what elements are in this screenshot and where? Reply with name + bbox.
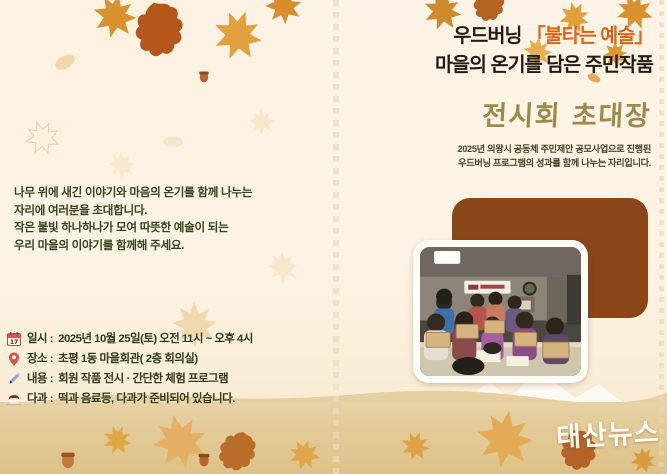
event-photo: [420, 247, 581, 376]
invitation-subtitle-line-2: 우드버닝 프로그램의 성과를 함께 나누는 자리입니다.: [337, 156, 651, 170]
info-row-refreshments: 다과 : 떡과 음료등, 다과가 준비되어 있습니다.: [6, 390, 331, 408]
headline-bracket-open: 「: [526, 25, 545, 47]
watermark: 태산뉴스: [555, 410, 660, 454]
headline-accent: 불타는 예술: [545, 25, 635, 47]
info-label-content: 내용 :: [27, 370, 53, 388]
headline-bracket-close: 」: [634, 25, 653, 47]
right-panel: 우드버닝 「불타는 예술」 마을의 온기를 담은 주민작품 전시회 초대장 20…: [333, 0, 667, 474]
teacup-icon: [6, 391, 22, 407]
invitation-subtitle-line-1: 2025년 의왕시 공동체 주민제안 공모사업으로 진행된: [337, 142, 651, 156]
info-row-content: 내용 : 회원 작품 전시 · 간단한 체험 프로그램: [6, 370, 331, 388]
invitation-body-text: 나무 위에 새긴 이야기와 마음의 온기를 함께 나누는 자리에 여러분을 초대…: [14, 184, 324, 254]
left-panel: 나무 위에 새긴 이야기와 마음의 온기를 함께 나누는 자리에 여러분을 초대…: [0, 0, 333, 474]
headline-line-2: 마을의 온기를 담은 주민작품: [337, 51, 653, 80]
info-value-refreshments: 떡과 음료등, 다과가 준비되어 있습니다.: [58, 390, 235, 408]
headline-prefix: 우드버닝: [453, 25, 526, 47]
invitation-body-line-3: 작은 불빛 하나하나가 모여 따뜻한 예술이 되는: [14, 219, 324, 237]
info-value-date: 2025년 10월 25일(토) 오전 11시 ~ 오후 4시: [58, 330, 253, 348]
svg-text:17: 17: [10, 339, 18, 346]
info-label-date: 일시 :: [27, 330, 53, 348]
photo-frame: [413, 240, 588, 383]
invitation-body-line-4: 우리 마을의 이야기를 함께해 주세요.: [14, 237, 324, 255]
event-info-list: 17 일시 : 2025년 10월 25일(토) 오전 11시 ~ 오후 4시 …: [6, 330, 331, 410]
headline: 우드버닝 「불타는 예술」 마을의 온기를 담은 주민작품: [337, 22, 653, 80]
info-label-refreshments: 다과 :: [27, 390, 53, 408]
invitation-subtitle: 2025년 의왕시 공동체 주민제안 공모사업으로 진행된 우드버닝 프로그램의…: [337, 142, 651, 170]
brush-icon: [6, 371, 22, 387]
invitation-body-line-1: 나무 위에 새긴 이야기와 마음의 온기를 함께 나누는: [14, 184, 324, 202]
info-row-date: 17 일시 : 2025년 10월 25일(토) 오전 11시 ~ 오후 4시: [6, 330, 331, 348]
location-pin-icon: [6, 351, 22, 367]
poster-canvas: 나무 위에 새긴 이야기와 마음의 온기를 함께 나누는 자리에 여러분을 초대…: [0, 0, 667, 474]
info-value-content: 회원 작품 전시 · 간단한 체험 프로그램: [58, 370, 228, 388]
info-label-place: 장소 :: [27, 350, 53, 368]
info-row-place: 장소 : 초평 1동 마을회관( 2층 회의실): [6, 350, 331, 368]
calendar-icon: 17: [6, 331, 22, 347]
info-value-place: 초평 1동 마을회관( 2층 회의실): [58, 350, 198, 368]
invitation-body-line-2: 자리에 여러분을 초대합니다.: [14, 202, 324, 220]
invitation-title: 전시회 초대장: [336, 100, 652, 134]
